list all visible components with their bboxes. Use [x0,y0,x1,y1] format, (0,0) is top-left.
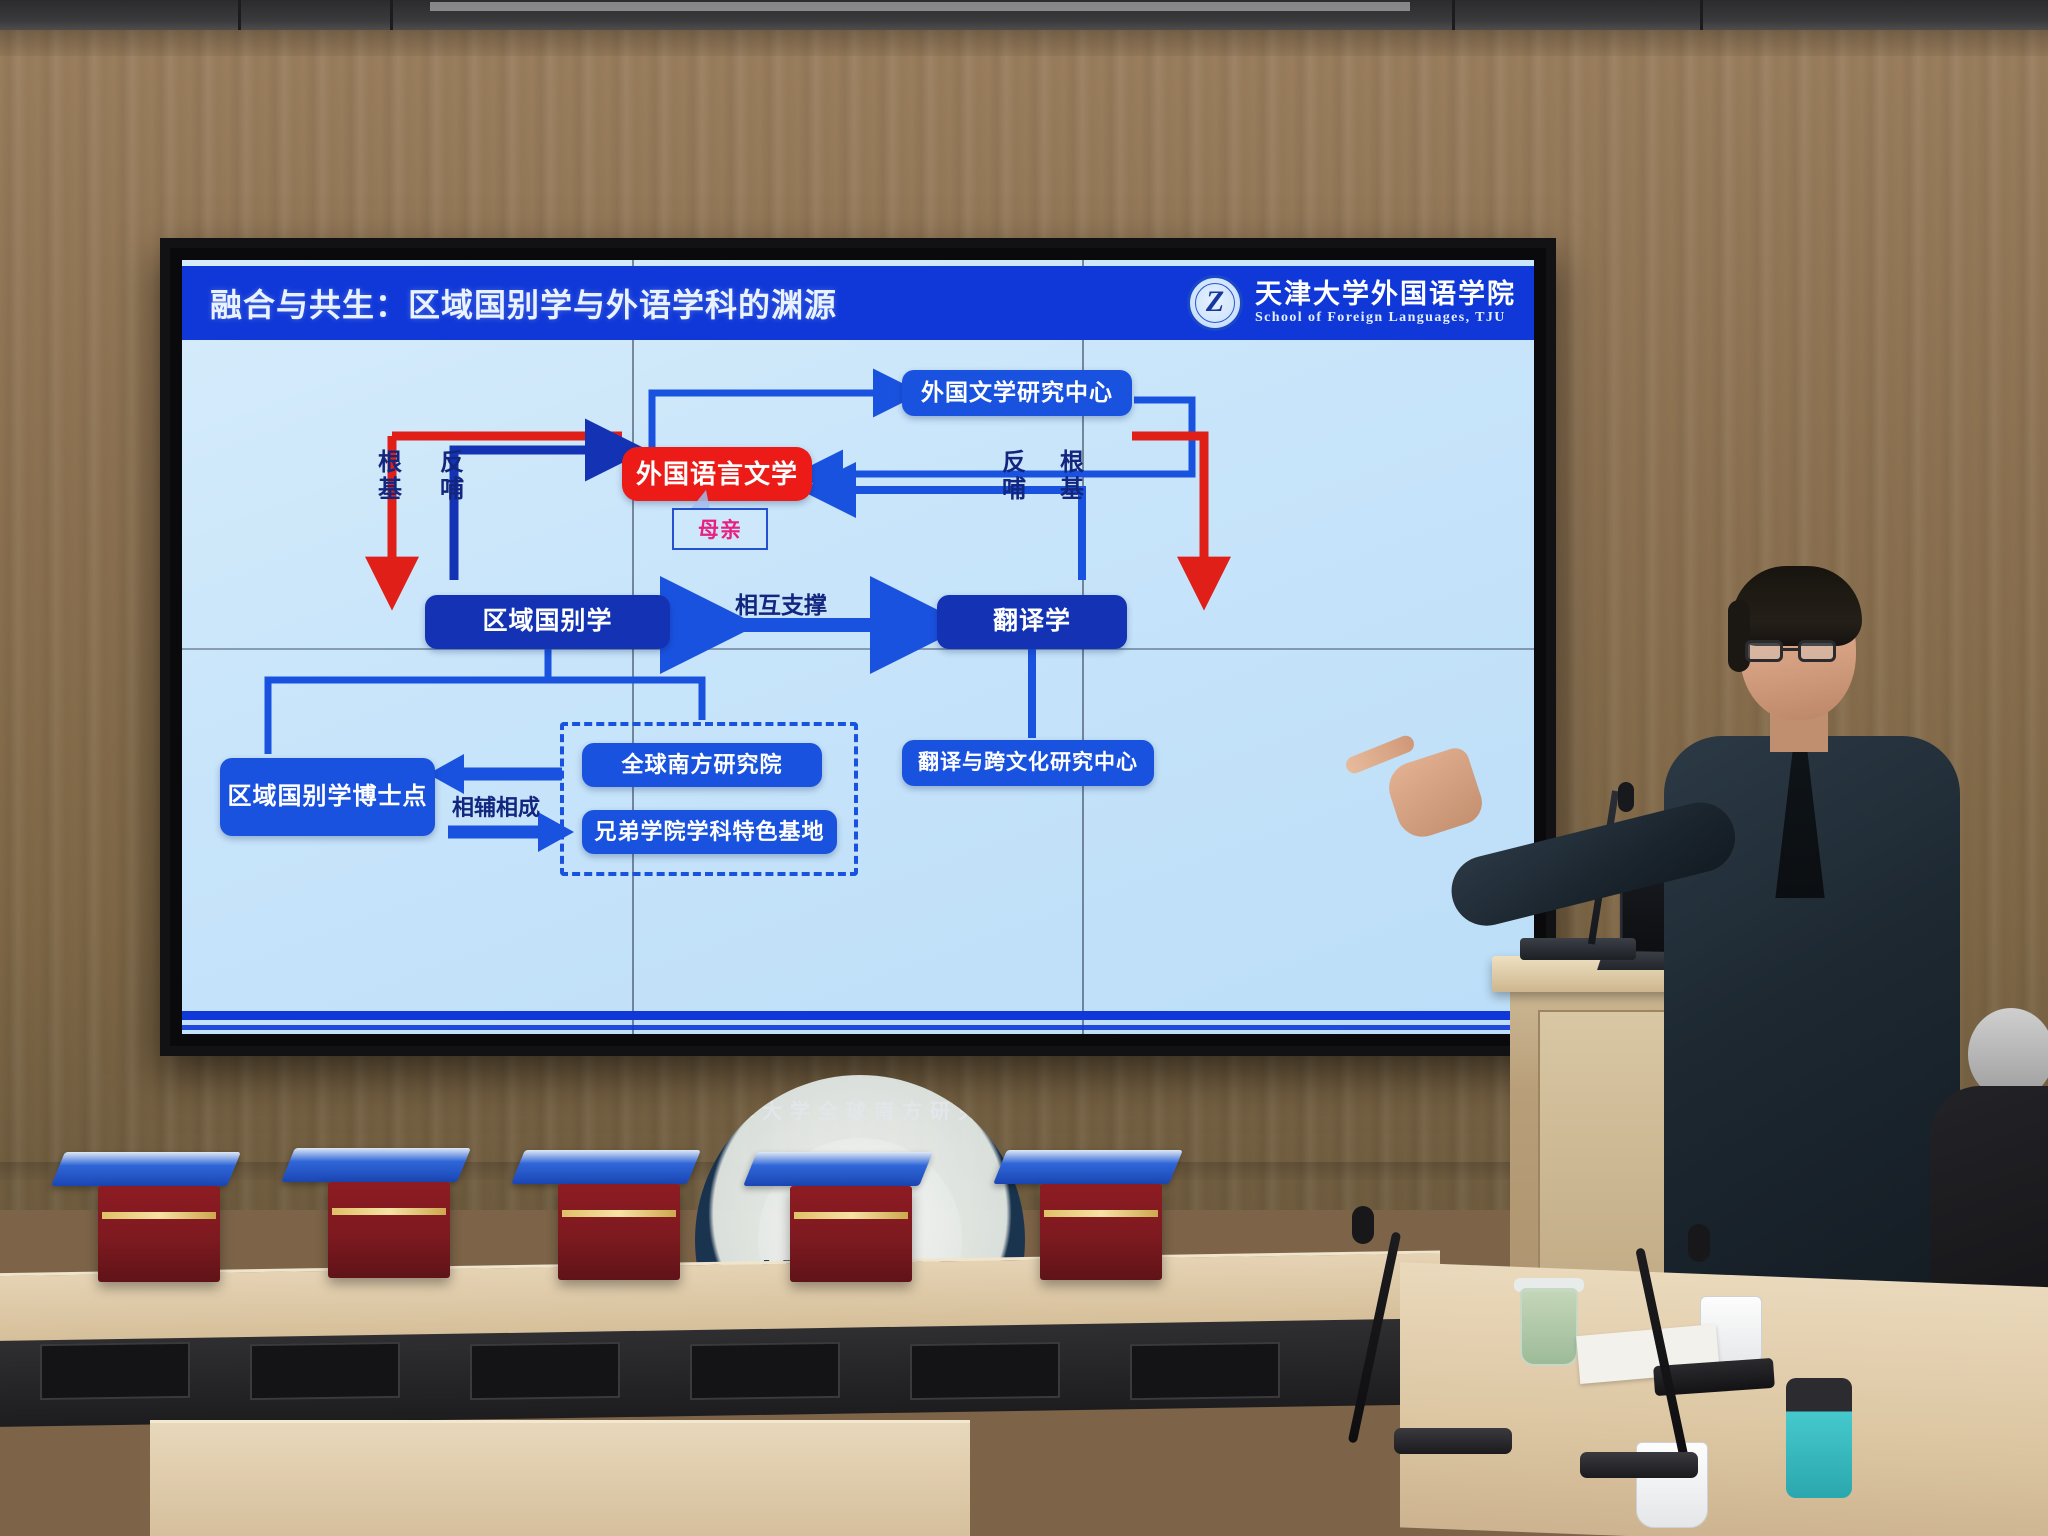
node-global-south-institute[interactable]: 全球南方研究院 [582,743,822,787]
university-seal-icon: Z [1187,275,1243,331]
riser-slot [910,1342,1060,1400]
name-plate-stand [558,1184,680,1280]
node-foreign-literature-center[interactable]: 外国文学研究中心 [902,370,1132,416]
name-plate-card [743,1152,933,1186]
name-plate-stand [98,1186,220,1282]
presenter-hair [1732,566,1862,646]
node-foreign-languages-literature[interactable]: 外国语言文学 [622,447,812,501]
name-plate-card [281,1148,471,1182]
riser-slot [690,1342,840,1400]
table-microphone-base [1394,1428,1512,1454]
label-complementary: 相辅相成 [452,790,540,822]
name-plate-stand [790,1186,912,1282]
node-translation-intercultural-center[interactable]: 翻译与跨文化研究中心 [902,740,1154,786]
slide-title: 融合与共生：区域国别学与外语学科的渊源 [210,280,837,326]
table-microphone-capsule [1352,1206,1374,1244]
riser-slot [40,1342,190,1400]
label-foundation-right: 根基 [1060,450,1086,504]
slide-canvas: 融合与共生：区域国别学与外语学科的渊源 Z 天津大学外国语学院 School o… [182,260,1534,1034]
name-plate-card [511,1150,701,1184]
name-plate-card [51,1152,241,1186]
wall-emblem-title-cn: 天津大学全球南方研究院 [695,1095,1025,1124]
riser-slot [470,1342,620,1400]
callout-mother: 母亲 [672,508,768,550]
label-feedback-right: 反哺 [1002,450,1028,504]
slide-header: 融合与共生：区域国别学与外语学科的渊源 Z 天津大学外国语学院 School o… [182,266,1534,340]
presenter-glasses-left-lens [1745,640,1783,662]
label-foundation-left: 根基 [378,450,404,504]
diagram-connectors [182,340,1534,1000]
callout-mother-label: 母亲 [698,514,742,544]
callout-tail [690,490,710,510]
conference-room-scene: 融合与共生：区域国别学与外语学科的渊源 Z 天津大学外国语学院 School o… [0,0,2048,1536]
presentation-screen[interactable]: 融合与共生：区域国别学与外语学科的渊源 Z 天津大学外国语学院 School o… [160,238,1556,1056]
name-plate-stand [1040,1184,1162,1280]
seal-letter: Z [1206,287,1224,317]
node-area-studies[interactable]: 区域国别学 [425,595,670,649]
brand-name-en: School of Foreign Languages, TJU [1255,310,1516,326]
label-feedback-left: 反哺 [440,450,466,504]
name-plate-stand [328,1182,450,1278]
presenter-hair-side [1728,600,1750,672]
ceiling-strip [0,0,2048,34]
node-area-studies-phd-program[interactable]: 区域国别学博士点 [220,758,435,836]
slide-footer-bar-thin [182,1025,1534,1030]
presenter-glasses-right-lens [1798,640,1836,662]
node-sister-school-feature-base[interactable]: 兄弟学院学科特色基地 [582,810,837,854]
slide-footer-bar [182,1011,1534,1020]
relationship-diagram: 外国文学研究中心 外国语言文学 区域国别学 翻译学 翻译与跨文化研究中心 区域国… [182,340,1534,1000]
label-mutual-support: 相互支撑 [735,586,827,620]
school-brand: Z 天津大学外国语学院 School of Foreign Languages,… [1187,266,1526,340]
node-translation-studies[interactable]: 翻译学 [937,595,1127,649]
presenter-glasses-bridge [1783,648,1798,651]
riser-slot [250,1342,400,1400]
name-plate-card [993,1150,1183,1184]
foreground-table [150,1420,970,1536]
table-microphone-capsule [1688,1224,1710,1262]
water-bottle[interactable] [1786,1378,1852,1498]
riser-slot [1130,1342,1280,1400]
table-microphone-base [1580,1452,1698,1478]
brand-name-cn: 天津大学外国语学院 [1255,280,1516,310]
tea-mug[interactable] [1520,1288,1578,1366]
